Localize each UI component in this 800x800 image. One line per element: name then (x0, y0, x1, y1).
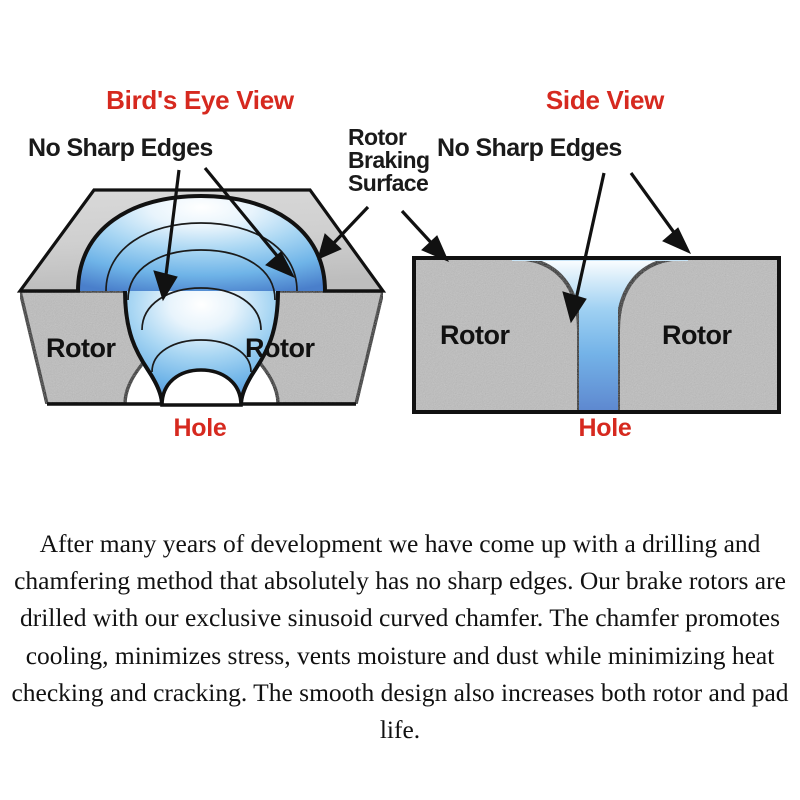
rotor-label-side-right: Rotor (662, 320, 731, 351)
no-sharp-edges-arrow-right-side (631, 173, 678, 238)
bird-eye-view-figure (20, 168, 383, 405)
rotor-braking-surface-label: Rotor Braking Surface (348, 126, 429, 195)
side-view-title: Side View (430, 87, 780, 114)
no-sharp-edges-arrow-right-head (663, 228, 690, 253)
side-view-figure (402, 173, 779, 412)
rotor-label-side-left: Rotor (440, 320, 509, 351)
description-paragraph: After many years of development we have … (8, 525, 792, 748)
hole-label-side-view: Hole (415, 416, 795, 442)
bird-eye-no-sharp-edges-label: No Sharp Edges (28, 136, 213, 162)
side-view-no-sharp-edges-label: No Sharp Edges (437, 136, 622, 162)
rotor-label-bird-eye-left: Rotor (46, 333, 115, 364)
diagram-graphics (0, 0, 800, 470)
rotor-label-bird-eye-right: Rotor (245, 333, 314, 364)
illustration-page: Bird's Eye View Side View No Sharp Edges… (0, 0, 800, 800)
bird-eye-view-title: Bird's Eye View (0, 87, 400, 114)
hole-label-bird-eye: Hole (0, 416, 400, 442)
